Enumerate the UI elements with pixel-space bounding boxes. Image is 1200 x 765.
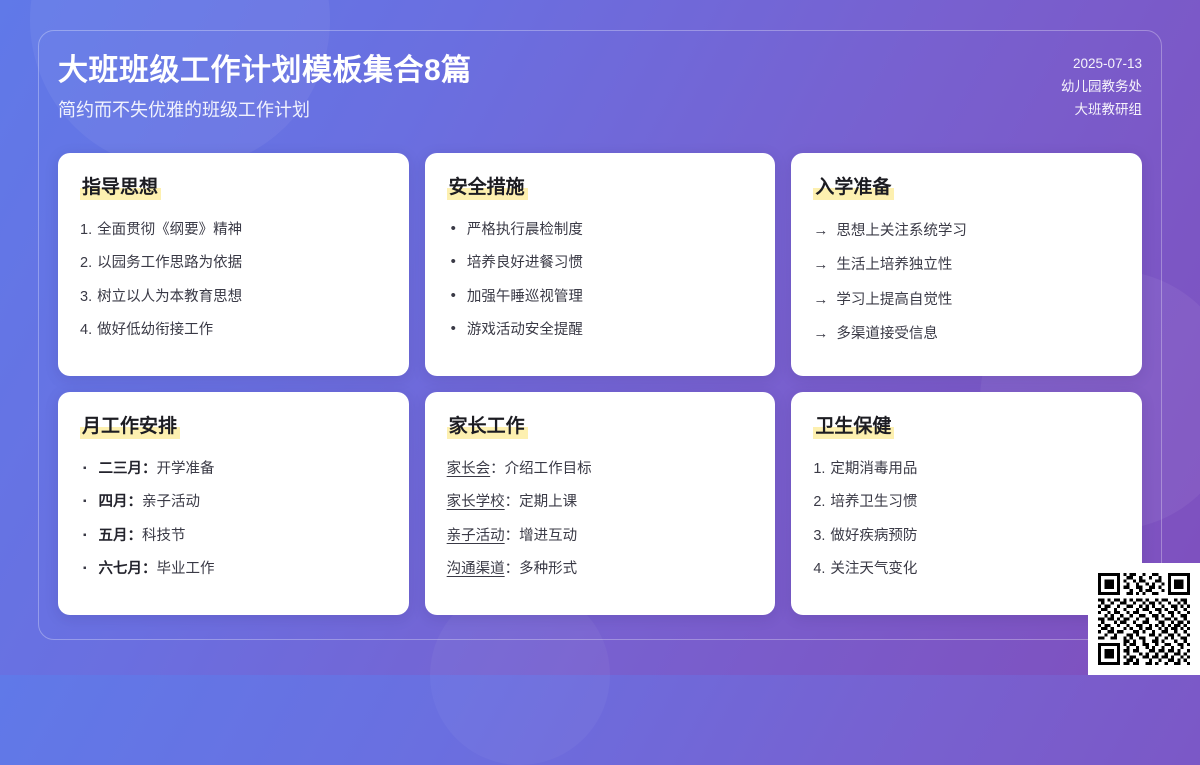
list-item-body: 定期消毒用品 [830,461,917,477]
list-item-text: 思想上关注系统学习 [836,221,1120,242]
list-item-text: 多渠道接受信息 [836,324,1120,345]
list-item: 3.树立以人为本教育思想 [80,287,387,308]
list-item-text: 五月：科技节 [99,526,387,547]
list-item-text: 加强午睡巡视管理 [467,287,753,308]
list-item-text: 全面贯彻《纲要》精神 [97,220,387,241]
list-marker-arrow-icon: → [813,254,828,276]
card-title: 安全措施 [447,177,528,200]
title-block: 大班班级工作计划模板集合8篇 简约而不失优雅的班级工作计划 [58,52,472,122]
list-item-body: 游戏活动安全提醒 [467,322,583,338]
list-marker-dot-icon: • [451,288,456,303]
list-marker-number-icon: 3. [813,526,825,547]
page-subtitle: 简约而不失优雅的班级工作计划 [58,99,472,122]
list-item-body: 培养良好进餐习惯 [467,255,583,271]
list-marker-arrow-icon: → [813,220,828,242]
list-item: →思想上关注系统学习 [813,220,1120,242]
list-item-underlined-lead: 家长会 [447,461,491,477]
list-item-lead: 二三月： [99,461,157,477]
list-marker-dot-icon: • [451,221,456,236]
card-list: 1.定期消毒用品2.培养卫生习惯3.做好疾病预防4.关注天气变化 [813,459,1120,581]
list-marker-number-icon: 1. [813,459,825,480]
list-item: 家长学校：定期上课 [447,492,754,513]
list-item: •严格执行晨检制度 [447,220,754,241]
content-card: 指导思想1.全面贯彻《纲要》精神2.以园务工作思路为依据3.树立以人为本教育思想… [58,153,409,376]
list-item: →多渠道接受信息 [813,323,1120,345]
list-marker-arrow-icon: → [813,289,828,311]
list-item: 1.全面贯彻《纲要》精神 [80,220,387,241]
list-marker-square-icon: ▪ [83,531,87,541]
list-item-body: 做好疾病预防 [830,528,917,544]
list-item-body: 做好低幼衔接工作 [97,322,213,338]
list-item: 3.做好疾病预防 [813,526,1120,547]
list-marker-number-icon: 3. [80,287,92,308]
list-item: •加强午睡巡视管理 [447,287,754,308]
list-item-text: 严格执行晨检制度 [467,220,753,241]
list-item-body: 亲子活动 [142,494,200,510]
list-item-body: ：介绍工作目标 [490,461,592,477]
list-item-text: 树立以人为本教育思想 [97,287,387,308]
list-item-body: ：增进互动 [505,528,578,544]
list-item-body: 培养卫生习惯 [830,494,917,510]
list-item-text: 游戏活动安全提醒 [467,320,753,341]
list-item-body: 以园务工作思路为依据 [97,255,242,271]
list-item-body: 开学准备 [157,461,215,477]
list-item: 1.定期消毒用品 [813,459,1120,480]
card-list: →思想上关注系统学习→生活上培养独立性→学习上提高自觉性→多渠道接受信息 [813,220,1120,346]
content-card: 安全措施•严格执行晨检制度•培养良好进餐习惯•加强午睡巡视管理•游戏活动安全提醒 [425,153,776,376]
list-item: 2.以园务工作思路为依据 [80,253,387,274]
list-item-text: 沟通渠道：多种形式 [447,559,754,580]
list-item-body: 关注天气变化 [830,561,917,577]
list-marker-dot-icon: • [451,321,456,336]
list-item: 沟通渠道：多种形式 [447,559,754,580]
list-item: 4.关注天气变化 [813,559,1120,580]
list-item-body: 思想上关注系统学习 [836,223,967,239]
card-title: 月工作安排 [80,416,180,439]
list-item: •培养良好进餐习惯 [447,253,754,274]
list-item-text: 做好疾病预防 [830,526,1120,547]
qr-code-panel[interactable] [1088,563,1200,675]
list-marker-number-icon: 4. [80,320,92,341]
list-item-text: 二三月：开学准备 [99,459,387,480]
card-list: 家长会：介绍工作目标家长学校：定期上课亲子活动：增进互动沟通渠道：多种形式 [447,459,754,581]
card-grid: 指导思想1.全面贯彻《纲要》精神2.以园务工作思路为依据3.树立以人为本教育思想… [58,153,1142,615]
list-item: 家长会：介绍工作目标 [447,459,754,480]
list-item: 亲子活动：增进互动 [447,526,754,547]
content-card: 入学准备→思想上关注系统学习→生活上培养独立性→学习上提高自觉性→多渠道接受信息 [791,153,1142,376]
list-marker-dot-icon: • [451,254,456,269]
list-marker-number-icon: 2. [813,492,825,513]
card-title: 入学准备 [813,177,894,200]
list-item: →生活上培养独立性 [813,254,1120,276]
page-title: 大班班级工作计划模板集合8篇 [58,52,472,90]
list-item-lead: 六七月： [99,561,157,577]
list-marker-square-icon: ▪ [83,564,87,574]
list-item-text: 关注天气变化 [830,559,1120,580]
list-item-underlined-lead: 亲子活动 [447,528,505,544]
list-item-text: 六七月：毕业工作 [99,559,387,580]
meta-date: 2025-07-13 [1061,52,1142,75]
list-item: →学习上提高自觉性 [813,289,1120,311]
list-marker-number-icon: 1. [80,220,92,241]
list-item-body: 多渠道接受信息 [836,326,938,342]
qr-code-icon [1098,573,1190,665]
content-card: 月工作安排▪二三月：开学准备▪四月：亲子活动▪五月：科技节▪六七月：毕业工作 [58,392,409,615]
list-marker-arrow-icon: → [813,323,828,345]
list-item-text: 四月：亲子活动 [99,492,387,513]
slide-header: 大班班级工作计划模板集合8篇 简约而不失优雅的班级工作计划 2025-07-13… [58,52,1142,122]
list-item-text: 学习上提高自觉性 [836,290,1120,311]
header-meta: 2025-07-13 幼儿园教务处 大班教研组 [1061,52,1142,122]
list-item-body: 毕业工作 [157,561,215,577]
list-item: ▪五月：科技节 [80,526,387,547]
list-item-lead: 四月： [99,494,143,510]
meta-group: 大班教研组 [1061,98,1142,121]
card-title: 指导思想 [80,177,161,200]
list-item-text: 家长学校：定期上课 [447,492,754,513]
card-list: •严格执行晨检制度•培养良好进餐习惯•加强午睡巡视管理•游戏活动安全提醒 [447,220,754,342]
list-item-text: 做好低幼衔接工作 [97,320,387,341]
content-card: 家长工作家长会：介绍工作目标家长学校：定期上课亲子活动：增进互动沟通渠道：多种形… [425,392,776,615]
list-marker-square-icon: ▪ [83,497,87,507]
list-item-underlined-lead: 家长学校 [447,494,505,510]
meta-org: 幼儿园教务处 [1061,75,1142,98]
list-item-body: 加强午睡巡视管理 [467,289,583,305]
card-title: 家长工作 [447,416,528,439]
card-list: 1.全面贯彻《纲要》精神2.以园务工作思路为依据3.树立以人为本教育思想4.做好… [80,220,387,342]
list-item-text: 培养卫生习惯 [830,492,1120,513]
list-item-lead: 五月： [99,528,143,544]
list-item-text: 亲子活动：增进互动 [447,526,754,547]
list-item-body: 科技节 [142,528,186,544]
list-item-underlined-lead: 沟通渠道 [447,561,505,577]
list-item: •游戏活动安全提醒 [447,320,754,341]
slide-root: 大班班级工作计划模板集合8篇 简约而不失优雅的班级工作计划 2025-07-13… [0,0,1200,675]
list-item-text: 生活上培养独立性 [836,255,1120,276]
list-marker-number-icon: 2. [80,253,92,274]
list-item-text: 定期消毒用品 [830,459,1120,480]
list-item-body: 全面贯彻《纲要》精神 [97,222,242,238]
list-item: ▪四月：亲子活动 [80,492,387,513]
list-item: 4.做好低幼衔接工作 [80,320,387,341]
list-item: ▪六七月：毕业工作 [80,559,387,580]
list-marker-square-icon: ▪ [83,464,87,474]
list-item: 2.培养卫生习惯 [813,492,1120,513]
list-item-text: 培养良好进餐习惯 [467,253,753,274]
card-title: 卫生保健 [813,416,894,439]
list-item-body: ：多种形式 [505,561,578,577]
list-item-text: 以园务工作思路为依据 [97,253,387,274]
list-item-text: 家长会：介绍工作目标 [447,459,754,480]
card-list: ▪二三月：开学准备▪四月：亲子活动▪五月：科技节▪六七月：毕业工作 [80,459,387,581]
list-item-body: 树立以人为本教育思想 [97,289,242,305]
list-item-body: 生活上培养独立性 [836,257,952,273]
list-item-body: ：定期上课 [505,494,578,510]
list-item: ▪二三月：开学准备 [80,459,387,480]
list-item-body: 严格执行晨检制度 [467,222,583,238]
list-marker-number-icon: 4. [813,559,825,580]
list-item-body: 学习上提高自觉性 [836,292,952,308]
